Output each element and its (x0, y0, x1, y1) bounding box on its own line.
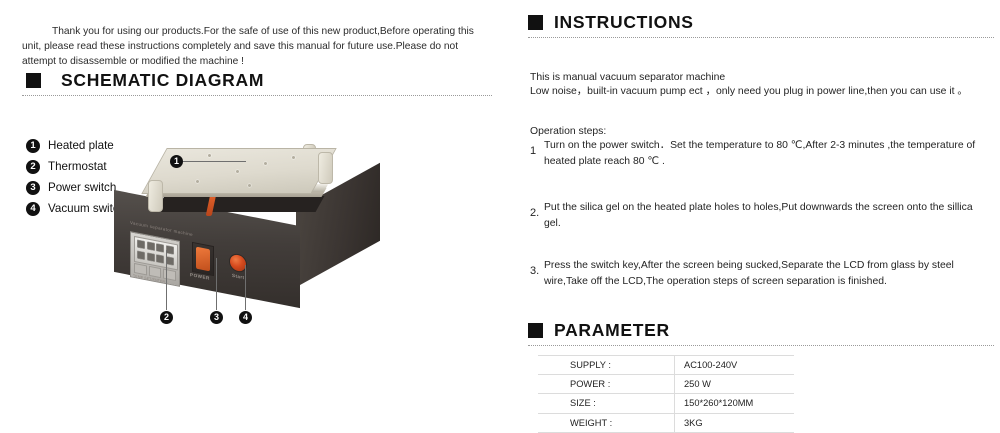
parameter-table: SUPPLY : AC100-240V POWER : 250 W SIZE :… (538, 355, 794, 433)
parameter-section-title: PARAMETER (554, 320, 670, 341)
callout-leader-2 (166, 250, 167, 310)
legend-number-icon: 2 (26, 160, 40, 174)
seven-segment-digit-icon (147, 252, 155, 262)
schematic-divider (22, 95, 492, 96)
parameter-divider (528, 345, 994, 346)
seven-segment-digit-icon (147, 241, 155, 251)
step-text: Turn on the power switch．Set the tempera… (544, 138, 976, 169)
seven-segment-digit-icon (137, 250, 145, 260)
callout-leader-3 (216, 258, 217, 310)
intro-paragraph: Thank you for using our products.For the… (22, 24, 494, 70)
parameter-section-header: PARAMETER (528, 320, 670, 341)
step-number: 1 (530, 138, 544, 169)
plate-screw-icon (292, 156, 295, 159)
parameter-key: SUPPLY : (538, 356, 675, 375)
parameter-key: POWER : (538, 375, 675, 394)
step-number: 2. (530, 200, 544, 231)
legend-number-icon: 1 (26, 139, 40, 153)
instructions-section-title: INSTRUCTIONS (554, 12, 694, 33)
parameter-value: AC100-240V (675, 356, 795, 375)
table-row: SUPPLY : AC100-240V (538, 356, 794, 375)
parameter-value: 250 W (675, 375, 795, 394)
plate-screw-icon (236, 170, 239, 173)
seven-segment-digit-icon (156, 243, 164, 253)
callout-marker-2: 2 (160, 311, 173, 324)
step-number: 3. (530, 258, 544, 289)
parameter-value: 150*260*120MM (675, 394, 795, 413)
machine-hinge-right (318, 152, 333, 184)
legend-number-icon: 3 (26, 181, 40, 195)
machine-heated-plate (141, 148, 336, 194)
machine-illustration: Vacuum separator machine (96, 140, 396, 330)
schematic-section-header: SCHEMATIC DIAGRAM (26, 70, 264, 91)
plate-screw-icon (196, 180, 199, 183)
seven-segment-digit-icon (156, 254, 164, 264)
callout-marker-1: 1 (170, 155, 183, 168)
plate-screw-icon (208, 154, 211, 157)
step-text: Press the switch key,After the screen be… (544, 258, 976, 289)
callout-leader-1 (183, 161, 246, 162)
plate-screw-icon (264, 162, 267, 165)
table-row: WEIGHT : 3KG (538, 413, 794, 432)
step-text: Put the silica gel on the heated plate h… (544, 200, 976, 231)
seven-segment-digit-icon (137, 239, 145, 249)
square-bullet-icon (528, 323, 543, 338)
square-bullet-icon (528, 15, 543, 30)
legend-number-icon: 4 (26, 202, 40, 216)
machine-hinge-left (148, 180, 163, 212)
machine-plate-gap (156, 196, 325, 212)
table-row: POWER : 250 W (538, 375, 794, 394)
plate-screw-icon (248, 184, 251, 187)
left-column: Thank you for using our products.For the… (0, 0, 510, 433)
machine-thermostat-display: TEMP SET/ENTER (130, 231, 180, 287)
power-rocker-icon[interactable] (196, 246, 210, 271)
instructions-line-2: Low noise，built-in vacuum pump ect ，only… (530, 84, 992, 100)
callout-marker-4: 4 (239, 311, 252, 324)
parameter-key: SIZE : (538, 394, 675, 413)
callout-leader-4 (245, 265, 246, 310)
machine-power-switch[interactable] (192, 242, 214, 276)
manual-page: Thank you for using our products.For the… (0, 0, 1000, 433)
schematic-section-title: SCHEMATIC DIAGRAM (61, 70, 264, 91)
operation-step-2: 2. Put the silica gel on the heated plat… (530, 200, 976, 231)
callout-marker-3: 3 (210, 311, 223, 324)
operation-step-3: 3. Press the switch key,After the screen… (530, 258, 976, 289)
instructions-divider (528, 37, 994, 38)
parameter-key: WEIGHT : (538, 413, 675, 432)
operation-step-1: 1 Turn on the power switch．Set the tempe… (530, 138, 976, 169)
instructions-section-header: INSTRUCTIONS (528, 12, 694, 33)
table-row: SIZE : 150*260*120MM (538, 394, 794, 413)
parameter-value: 3KG (675, 413, 795, 432)
square-bullet-icon (26, 73, 41, 88)
